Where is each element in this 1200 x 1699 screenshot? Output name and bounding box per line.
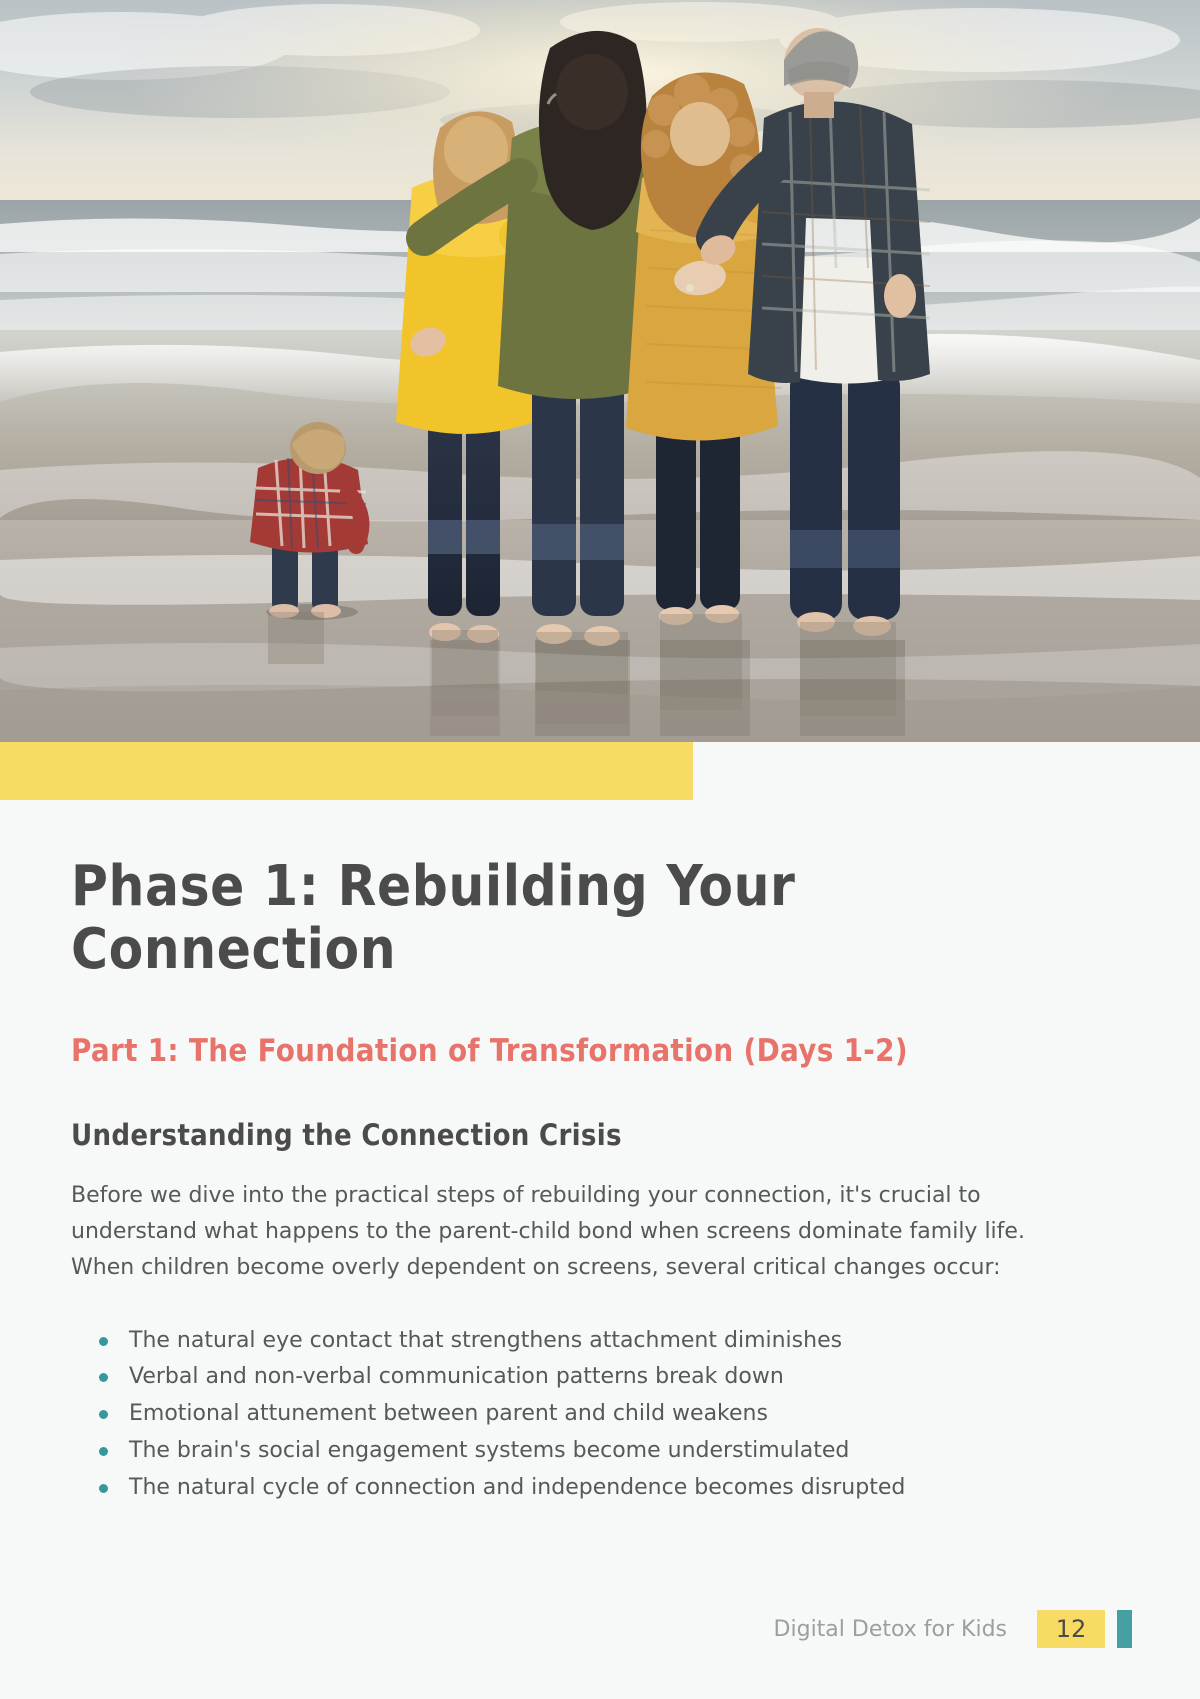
list-item: Emotional attunement between parent and … — [99, 1396, 1101, 1433]
list-item-label: The brain's social engagement systems be… — [129, 1438, 849, 1463]
bullet-dot-icon — [99, 1447, 108, 1456]
bullet-dot-icon — [99, 1410, 108, 1419]
connection-crisis-list: The natural eye contact that strengthens… — [71, 1323, 1101, 1508]
page-content: Phase 1: Rebuilding Your Connection Part… — [71, 855, 1101, 1507]
list-item: The natural cycle of connection and inde… — [99, 1470, 1101, 1507]
list-item: The natural eye contact that strengthens… — [99, 1323, 1101, 1360]
intro-paragraph: Before we dive into the practical steps … — [71, 1178, 1046, 1286]
page-footer: Digital Detox for Kids 12 — [0, 1606, 1200, 1652]
list-item-label: The natural eye contact that strengthens… — [129, 1328, 842, 1353]
part-title: Part 1: The Foundation of Transformation… — [71, 1032, 1016, 1071]
bullet-dot-icon — [99, 1373, 108, 1382]
footer-teal-tick — [1117, 1610, 1132, 1648]
bullet-dot-icon — [99, 1484, 108, 1493]
list-item-label: Verbal and non-verbal communication patt… — [129, 1364, 784, 1389]
hero-image — [0, 0, 1200, 742]
list-item: Verbal and non-verbal communication patt… — [99, 1359, 1101, 1396]
list-item-label: Emotional attunement between parent and … — [129, 1401, 768, 1426]
footer-book-title: Digital Detox for Kids — [774, 1617, 1007, 1642]
bullet-dot-icon — [99, 1337, 108, 1346]
section-heading: Understanding the Connection Crisis — [71, 1118, 1101, 1152]
page-title: Phase 1: Rebuilding Your Connection — [71, 855, 861, 982]
list-item-label: The natural cycle of connection and inde… — [129, 1475, 905, 1500]
page-number-badge: 12 — [1037, 1610, 1105, 1648]
yellow-accent-bar — [0, 742, 693, 800]
hero-photo-illustration — [0, 0, 1200, 742]
list-item: The brain's social engagement systems be… — [99, 1433, 1101, 1470]
